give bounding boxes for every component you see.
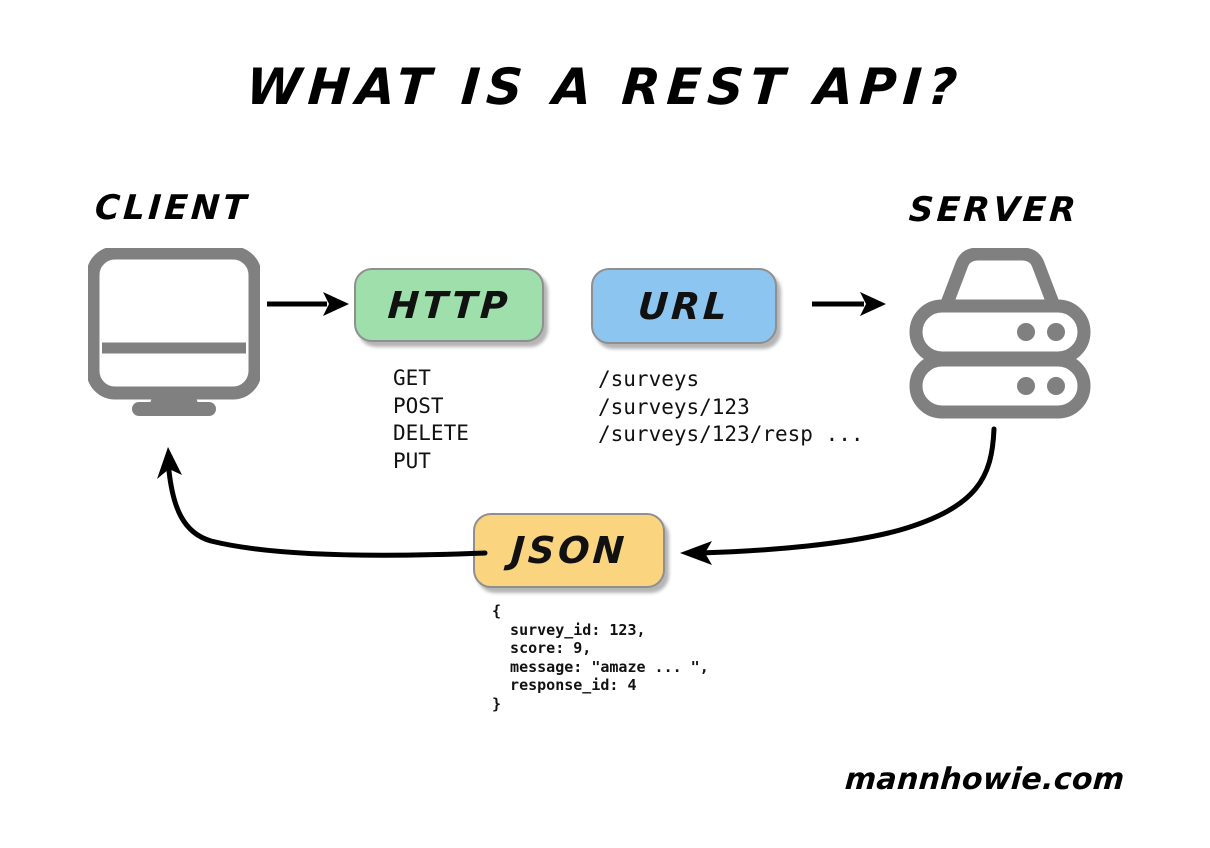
arrow-json-to-client — [155, 445, 495, 570]
server-label: SERVER — [908, 190, 1081, 230]
arrow-url-to-server — [810, 286, 902, 322]
arrow-client-to-http — [265, 286, 357, 322]
monitor-icon — [88, 248, 260, 420]
client-label: CLIENT — [94, 188, 251, 228]
site-watermark: mannhowie.com — [844, 762, 1126, 797]
http-box[interactable]: HTTP — [354, 268, 544, 342]
http-box-label: HTTP — [386, 284, 512, 327]
json-box-label: JSON — [509, 529, 628, 572]
url-box-label: URL — [636, 285, 731, 328]
json-payload-code: { survey_id: 123, score: 9, message: "am… — [492, 602, 709, 713]
arrow-server-to-json — [660, 425, 1030, 575]
server-stack-icon — [900, 248, 1100, 420]
url-box[interactable]: URL — [591, 268, 777, 344]
json-box[interactable]: JSON — [473, 513, 665, 588]
page-title: WHAT IS A REST API? — [0, 58, 1210, 116]
